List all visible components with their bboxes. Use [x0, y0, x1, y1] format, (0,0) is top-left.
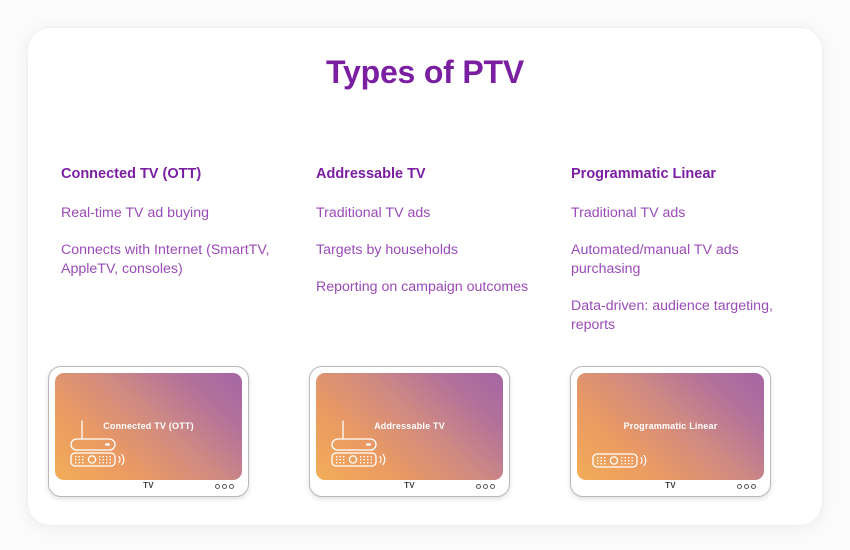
tv-card-connected-tv: Connected TV (OTT) [48, 366, 251, 497]
tv-indicator-dots [215, 484, 234, 489]
dot-icon [490, 484, 495, 489]
column-item: Automated/manual TV ads purchasing [571, 241, 789, 279]
tv-screen: Programmatic Linear [577, 373, 764, 480]
tv-frame: Programmatic Linear [570, 366, 771, 497]
tv-bottom-bar: TV [310, 478, 509, 496]
wifi-signal-icon [641, 456, 646, 466]
column-heading: Programmatic Linear [571, 166, 789, 183]
column-item: Traditional TV ads [316, 204, 534, 223]
column-item: Real-time TV ad buying [61, 204, 279, 223]
tv-frame: Addressable TV [309, 366, 510, 497]
dot-icon [222, 484, 227, 489]
remote-buttons-left [336, 456, 344, 463]
router-and-remote-icons [69, 419, 149, 471]
tv-bottom-bar: TV [49, 478, 248, 496]
column-item: Connects with Internet (SmartTV, AppleTV… [61, 241, 279, 279]
column-programmatic-linear: Programmatic Linear Traditional TV ads A… [571, 166, 789, 335]
page-title: Types of PTV [28, 54, 822, 91]
tv-indicator-dots [476, 484, 495, 489]
tv-card-programmatic-linear: Programmatic Linear [570, 366, 773, 497]
remote-body [332, 453, 376, 466]
dot-icon [215, 484, 220, 489]
remote-buttons-right [360, 456, 372, 463]
column-connected-tv: Connected TV (OTT) Real-time TV ad buyin… [61, 166, 279, 335]
remote-buttons-right [621, 457, 633, 464]
dot-icon [744, 484, 749, 489]
remote-dpad [88, 456, 95, 463]
dot-icon [483, 484, 488, 489]
column-addressable-tv: Addressable TV Traditional TV ads Target… [316, 166, 534, 335]
remote-buttons-left [75, 456, 83, 463]
column-heading: Addressable TV [316, 166, 534, 183]
tv-screen: Connected TV (OTT) [55, 373, 242, 480]
wifi-signal-icon [380, 455, 385, 465]
remote-buttons-left [597, 457, 605, 464]
dot-icon [229, 484, 234, 489]
tv-card-addressable-tv: Addressable TV [309, 366, 512, 497]
tv-indicator-dots [737, 484, 756, 489]
device-icon-group [330, 419, 410, 471]
column-item: Reporting on campaign outcomes [316, 278, 534, 297]
tv-screen-label: Programmatic Linear [577, 421, 764, 431]
column-item: Data-driven: audience targeting, reports [571, 297, 789, 335]
dot-icon [476, 484, 481, 489]
slide-card: Types of PTV Connected TV (OTT) Real-tim… [28, 28, 822, 525]
remote-body [593, 454, 637, 467]
columns-container: Connected TV (OTT) Real-time TV ad buyin… [61, 166, 789, 335]
tv-screen: Addressable TV [316, 373, 503, 480]
tv-frame: Connected TV (OTT) [48, 366, 249, 497]
router-and-remote-icons [330, 419, 410, 471]
remote-dpad [610, 457, 617, 464]
wifi-signal-icon [119, 455, 124, 465]
remote-buttons-right [99, 456, 111, 463]
tv-illustrations-row: Connected TV (OTT) [48, 366, 802, 497]
tv-bottom-bar: TV [571, 478, 770, 496]
device-icon-group [591, 451, 671, 471]
dot-icon [751, 484, 756, 489]
router-led [105, 443, 110, 445]
column-heading: Connected TV (OTT) [61, 166, 279, 183]
remote-body [71, 453, 115, 466]
column-item: Targets by households [316, 241, 534, 260]
column-item: Traditional TV ads [571, 204, 789, 223]
dot-icon [737, 484, 742, 489]
remote-dpad [349, 456, 356, 463]
router-led [366, 443, 371, 445]
remote-control-icon [591, 451, 671, 471]
device-icon-group [69, 419, 149, 471]
